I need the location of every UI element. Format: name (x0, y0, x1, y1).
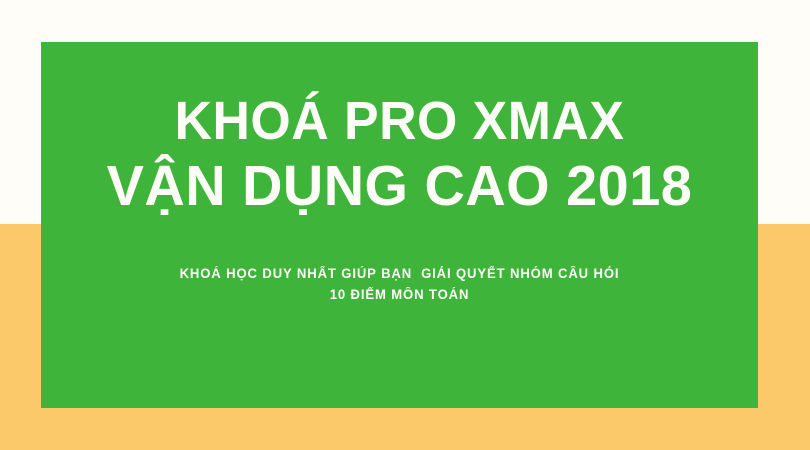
headline-block: KHOÁ PRO XMAX VẬN DỤNG CAO 2018 (41, 94, 758, 215)
subtitle-block: KHOÁ HỌC DUY NHẤT GIÚP BẠN GIẢI QUYẾT NH… (41, 264, 758, 306)
headline-line-1: KHOÁ PRO XMAX (55, 94, 743, 148)
subtitle-line-1: KHOÁ HỌC DUY NHẤT GIÚP BẠN GIẢI QUYẾT NH… (52, 264, 747, 285)
headline-line-2: VẬN DỤNG CAO 2018 (48, 158, 751, 215)
subtitle-line-2: 10 ĐIỂM MÔN TOÁN (52, 285, 747, 306)
poster-canvas: KHOÁ PRO XMAX VẬN DỤNG CAO 2018 KHOÁ HỌC… (0, 0, 810, 450)
green-content-card: KHOÁ PRO XMAX VẬN DỤNG CAO 2018 KHOÁ HỌC… (41, 42, 758, 408)
